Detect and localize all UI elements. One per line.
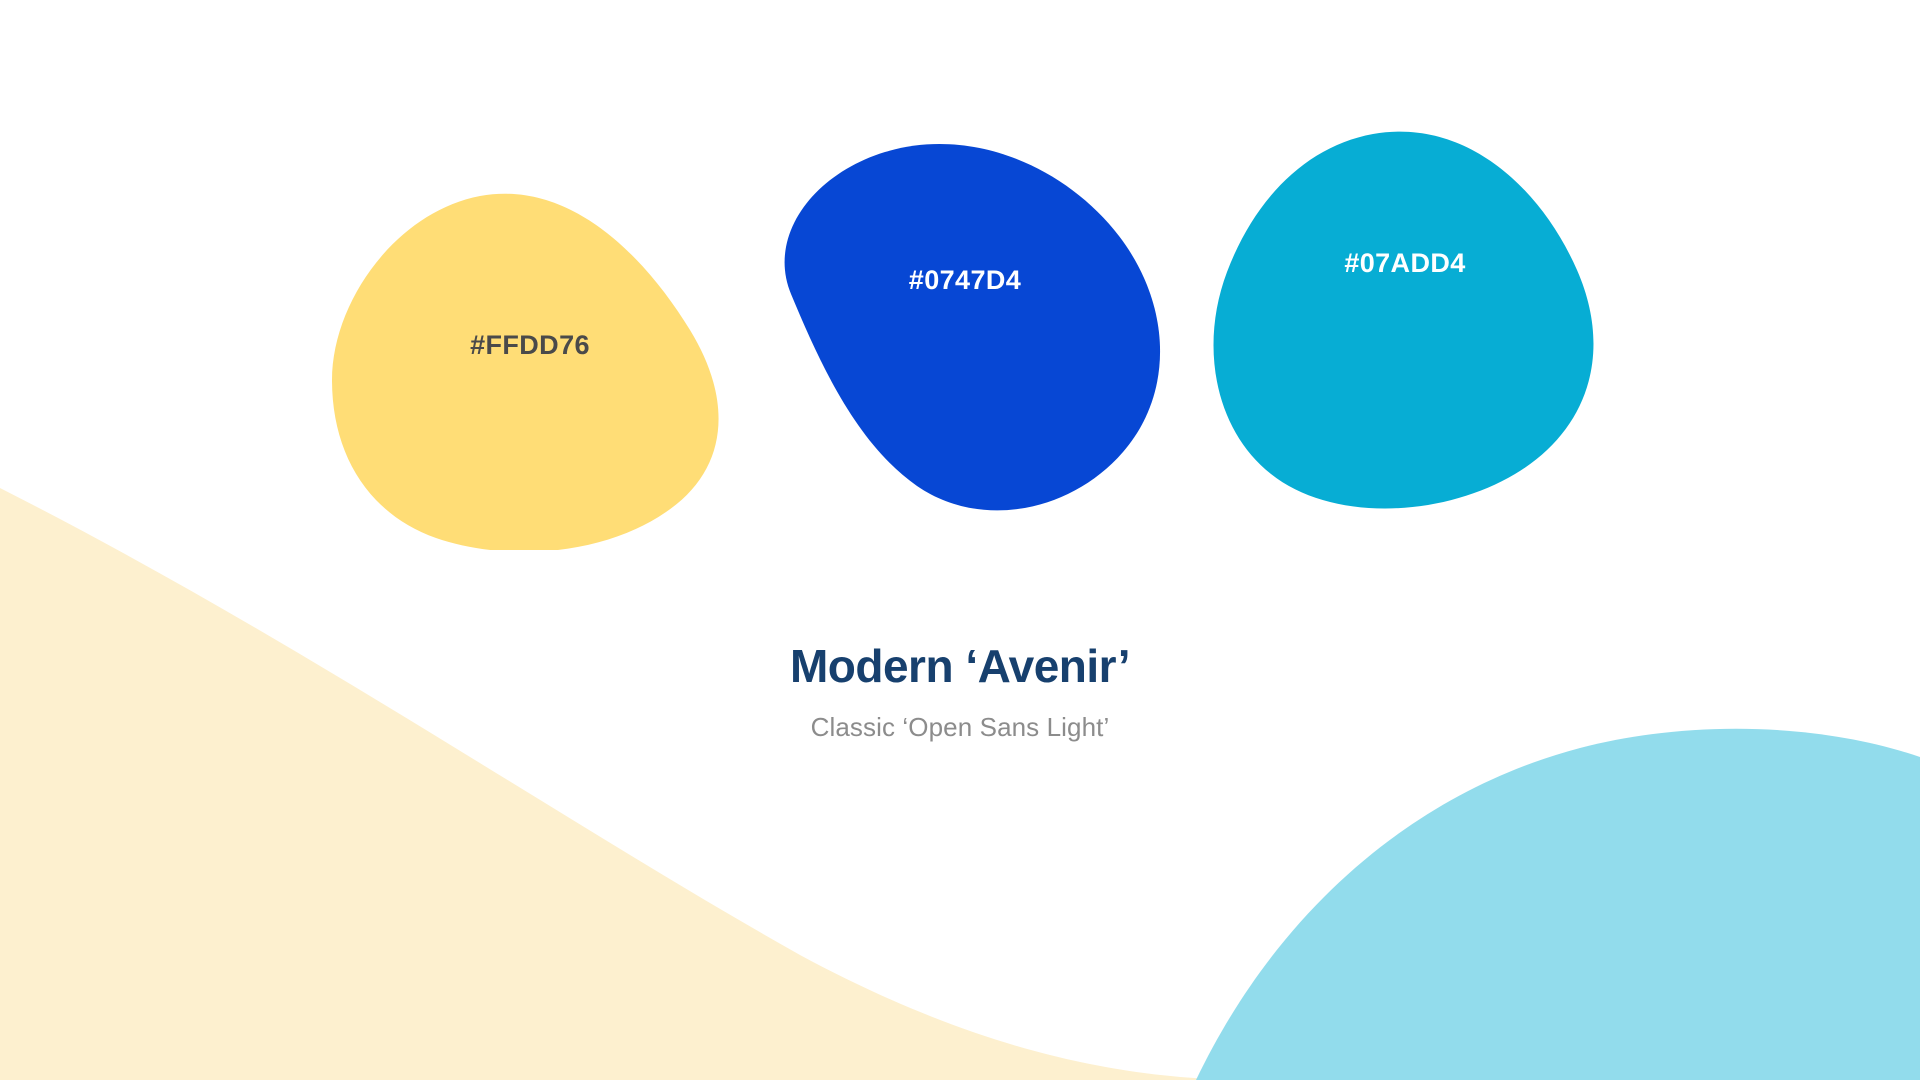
typeface-subtitle: Classic ‘Open Sans Light’ <box>0 712 1920 743</box>
blob-shape-teal <box>1205 130 1605 510</box>
color-swatch-teal[interactable]: #07ADD4 <box>1205 130 1605 510</box>
color-swatch-blue[interactable]: #0747D4 <box>765 140 1165 520</box>
typeface-title: Modern ‘Avenir’ <box>0 640 1920 693</box>
blob-shape-blue <box>765 140 1165 520</box>
color-palette-row: #FFDD76 #0747D4 #07ADD4 <box>0 0 1920 1080</box>
swatch-label-blue: #0747D4 <box>765 265 1165 296</box>
swatch-label-yellow: #FFDD76 <box>330 330 730 361</box>
swatch-label-teal: #07ADD4 <box>1205 248 1605 279</box>
brand-style-slide: #FFDD76 #0747D4 #07ADD4 Modern ‘Avenir’ … <box>0 0 1920 1080</box>
blob-shape-yellow <box>330 190 730 550</box>
color-swatch-yellow[interactable]: #FFDD76 <box>330 190 730 550</box>
typography-block: Modern ‘Avenir’ Classic ‘Open Sans Light… <box>0 640 1920 743</box>
